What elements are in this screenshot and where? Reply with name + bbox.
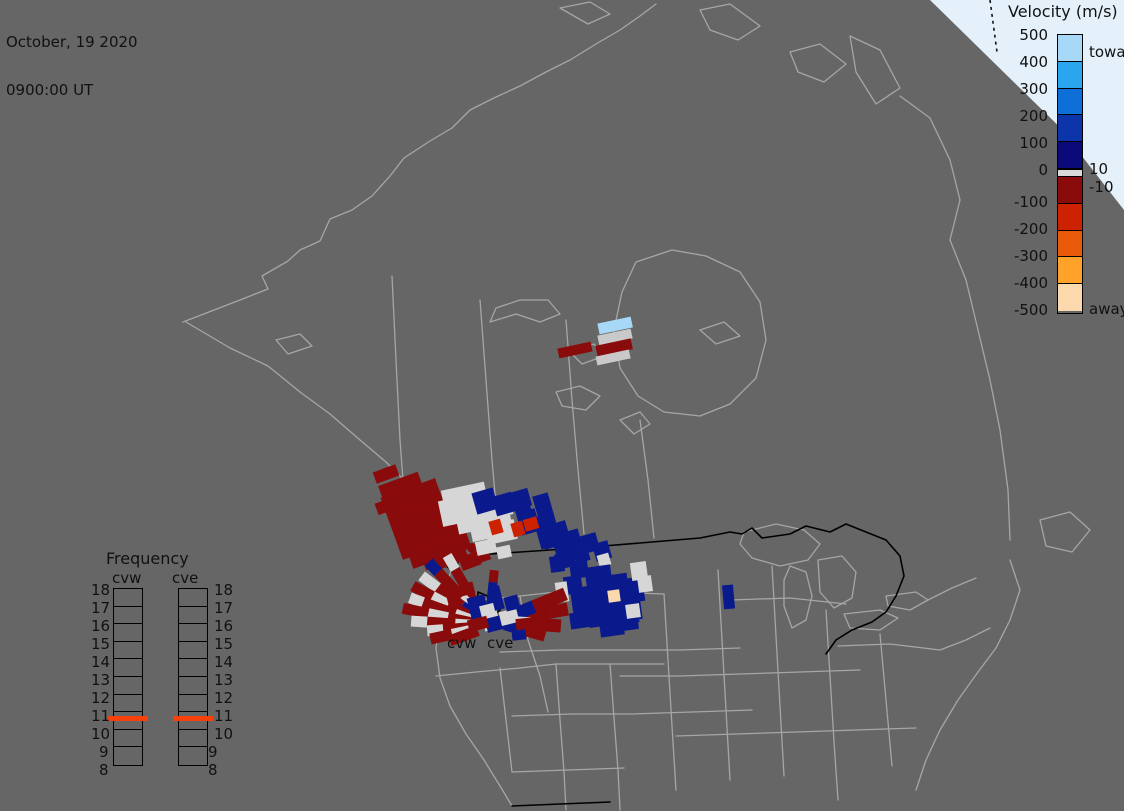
frequency-tick-cve: 11: [214, 707, 233, 725]
colorbar-inner-neg-label: -10: [1089, 178, 1114, 196]
velocity-colorbar: [1057, 34, 1083, 314]
frequency-cell: [179, 747, 207, 765]
echo-cell: [637, 575, 653, 593]
echo-cell: [625, 603, 641, 619]
colorbar-tick: -200: [1000, 220, 1048, 238]
frequency-tick-cvw: 17: [91, 599, 110, 617]
frequency-column-name-cve: cve: [172, 569, 198, 587]
frequency-cell: [179, 607, 207, 625]
frequency-cell: [179, 695, 207, 713]
colorbar-toward-label: toward: [1089, 43, 1124, 61]
frequency-cell: [179, 642, 207, 660]
colorbar-band: [1058, 142, 1082, 169]
frequency-tick-cve: 14: [214, 653, 233, 671]
echo-cell: [557, 342, 592, 359]
colorbar-band: [1058, 177, 1082, 204]
colorbar-band: [1058, 204, 1082, 231]
colorbar-band: [1058, 231, 1082, 258]
frequency-tick-cve: 9: [208, 743, 218, 761]
frequency-cell: [114, 747, 142, 765]
frequency-tick-cvw: 13: [91, 671, 110, 689]
colorbar-tick: 200: [1000, 107, 1048, 125]
colorbar-away-label: away: [1089, 300, 1124, 318]
colorbar-tick: 300: [1000, 80, 1048, 98]
colorbar-tick: 500: [1000, 26, 1048, 44]
colorbar-tick: -100: [1000, 193, 1048, 211]
frequency-tick-cve: 17: [214, 599, 233, 617]
colorbar-tick: 400: [1000, 53, 1048, 71]
colorbar-band: [1058, 257, 1082, 284]
echo-group-northern-isolated: [557, 317, 633, 366]
echo-cell: [496, 545, 512, 560]
frequency-cell: [114, 589, 142, 607]
frequency-tick-cvw: 9: [99, 743, 109, 761]
frequency-scale-cve: [178, 588, 208, 766]
colorbar-tick: -500: [1000, 301, 1048, 319]
frequency-tick-cve: 15: [214, 635, 233, 653]
timestamp-time: 0900:00 UT: [6, 82, 138, 98]
colorbar-band: [1058, 35, 1082, 62]
frequency-cell: [179, 730, 207, 748]
frequency-tick-cvw: 18: [91, 581, 110, 599]
frequency-tick-cve: 10: [214, 725, 233, 743]
echo-cell: [722, 585, 735, 610]
colorbar-tick: 100: [1000, 134, 1048, 152]
colorbar-tick: -400: [1000, 274, 1048, 292]
frequency-column-name-cvw: cvw: [112, 569, 141, 587]
echo-cell: [489, 570, 499, 583]
colorbar-band: [1058, 115, 1082, 142]
frequency-cell: [114, 607, 142, 625]
frequency-tick-cve: 8: [208, 761, 218, 779]
frequency-tick-cvw: 16: [91, 617, 110, 635]
echo-group-cvw-cve-fan: [402, 553, 569, 646]
echo-group-dakota-cell: [722, 585, 735, 610]
echo-group-northeast-toward: [471, 487, 612, 570]
frequency-tick-cvw: 12: [91, 689, 110, 707]
colorbar-zero-band: [1058, 169, 1082, 177]
radar-map-canvas: cvw cve October, 19 2020 0900:00 UT Velo…: [0, 0, 1124, 811]
frequency-cell: [114, 730, 142, 748]
echo-cell: [607, 589, 621, 603]
frequency-marker-cve: [173, 716, 213, 721]
frequency-tick-cvw: 10: [91, 725, 110, 743]
colorbar-inner-pos-label: 10: [1089, 160, 1108, 178]
echo-cell: [569, 611, 593, 630]
frequency-cell: [114, 677, 142, 695]
echo-cell: [549, 555, 565, 573]
frequency-cell: [114, 695, 142, 713]
colorbar-tick: 0: [1000, 161, 1048, 179]
echo-cell: [515, 617, 536, 631]
site-label-cve: cve: [487, 634, 513, 652]
frequency-cell: [179, 677, 207, 695]
frequency-cell: [179, 624, 207, 642]
site-label-cvw: cvw: [447, 634, 476, 652]
colorbar-band: [1058, 62, 1082, 89]
frequency-tick-cve: 18: [214, 581, 233, 599]
frequency-cell: [179, 589, 207, 607]
colorbar-band: [1058, 284, 1082, 311]
frequency-tick-cvw: 15: [91, 635, 110, 653]
echo-cell: [512, 629, 527, 640]
frequency-tick-cvw: 14: [91, 653, 110, 671]
colorbar-title: Velocity (m/s): [1008, 2, 1118, 21]
frequency-tick-cvw: 8: [99, 761, 109, 779]
frequency-cell: [179, 659, 207, 677]
echo-cell: [411, 616, 428, 628]
frequency-tick-cve: 13: [214, 671, 233, 689]
frequency-tick-cvw: 11: [91, 707, 110, 725]
colorbar-band: [1058, 89, 1082, 116]
frequency-cell: [114, 642, 142, 660]
frequency-tick-cve: 16: [214, 617, 233, 635]
frequency-tick-cve: 12: [214, 689, 233, 707]
frequency-cell: [114, 624, 142, 642]
frequency-scale-cvw: [113, 588, 143, 766]
frequency-cell: [114, 659, 142, 677]
frequency-marker-cvw: [108, 716, 148, 721]
colorbar-tick: -300: [1000, 247, 1048, 265]
timestamp-date: October, 19 2020: [6, 34, 138, 50]
radar-echo-cells: [0, 0, 1124, 811]
frequency-legend-title: Frequency: [106, 549, 189, 568]
timestamp-block: October, 19 2020 0900:00 UT: [6, 2, 138, 130]
